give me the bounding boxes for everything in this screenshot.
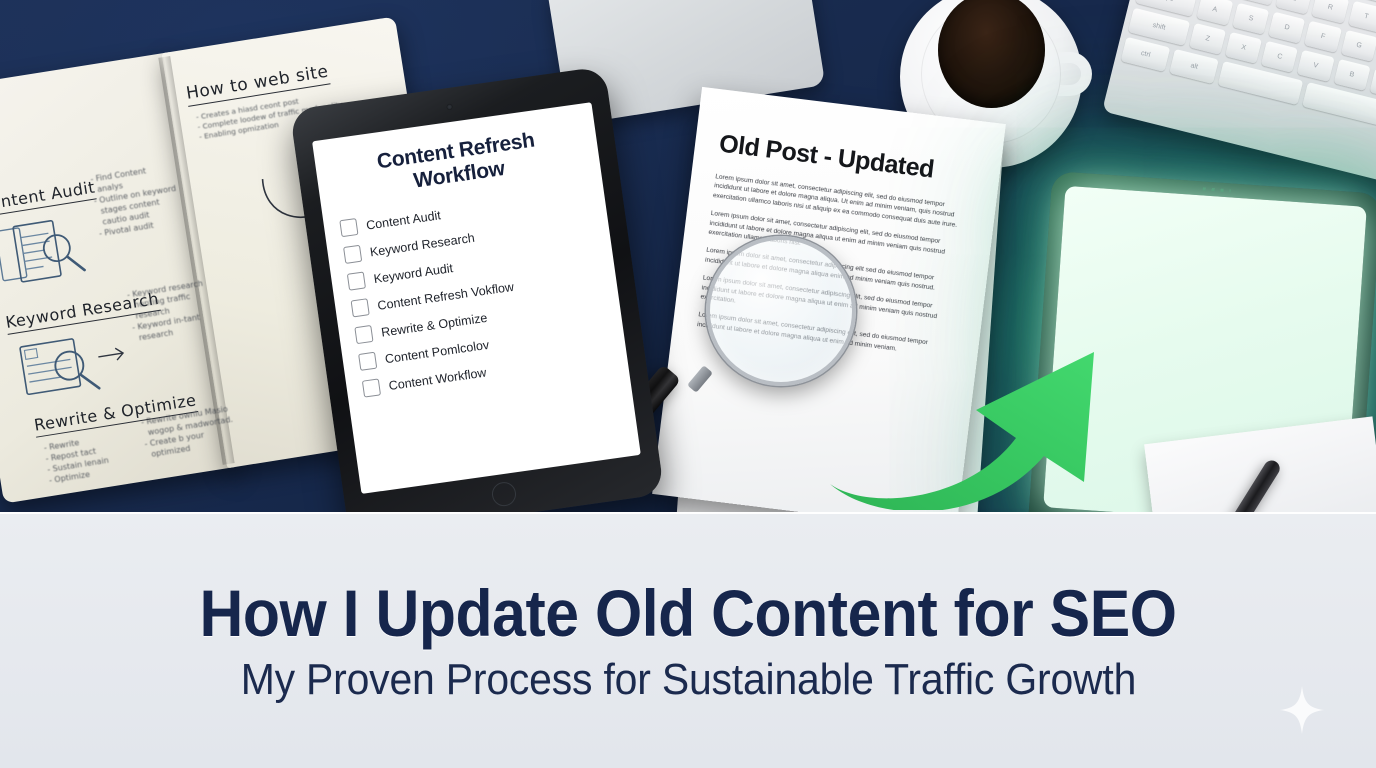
checkbox[interactable] xyxy=(358,352,377,371)
checklist-item-label: Rewrite & Optimize xyxy=(380,310,488,339)
checklist-item-label: Content Audit xyxy=(365,208,441,232)
notebook-notes-content-audit: - Find Content analys - Outline on keywo… xyxy=(90,161,182,239)
desk-photo: ~ 1 2 3 4 5 6 7 8 tab Q W E R T Y U xyxy=(0,0,1376,514)
checklist-item-label: Content Pomlcolov xyxy=(384,337,490,365)
key: D xyxy=(1268,12,1305,44)
key: V xyxy=(1297,50,1334,82)
checkbox[interactable] xyxy=(354,325,373,344)
checklist: Content Audit Keyword Research Keyword A… xyxy=(339,186,611,398)
key: N xyxy=(1369,68,1376,100)
checkbox[interactable] xyxy=(343,245,362,264)
tablet-screen: Content Refresh Workflow Content Audit K… xyxy=(312,102,641,494)
key: X xyxy=(1225,32,1262,64)
checkbox[interactable] xyxy=(362,378,381,397)
key: T xyxy=(1348,1,1376,33)
key: R xyxy=(1312,0,1349,24)
key: Z xyxy=(1189,23,1226,55)
checkbox[interactable] xyxy=(347,271,366,290)
keyboard: ~ 1 2 3 4 5 6 7 8 tab Q W E R T Y U xyxy=(1102,0,1376,191)
green-arrow-icon xyxy=(826,260,1166,510)
page-subtitle: My Proven Process for Sustainable Traffi… xyxy=(240,656,1135,704)
checkbox[interactable] xyxy=(351,298,370,317)
tablet-sensor-dots xyxy=(1203,187,1231,192)
key: B xyxy=(1333,59,1370,91)
checklist-item-label: Content Workflow xyxy=(388,365,487,393)
key: F xyxy=(1304,21,1341,53)
magnifier-lens xyxy=(706,236,856,386)
key: G xyxy=(1340,30,1376,62)
blog-header-graphic: ~ 1 2 3 4 5 6 7 8 tab Q W E R T Y U xyxy=(0,0,1376,768)
tablet-home-button[interactable] xyxy=(490,481,517,508)
key: A xyxy=(1196,0,1233,26)
title-banner: How I Update Old Content for SEO My Prov… xyxy=(0,512,1376,768)
checklist-item-label: Keyword Research xyxy=(369,230,476,259)
key-ctrl: ctrl xyxy=(1121,37,1171,72)
page-title: How I Update Old Content for SEO xyxy=(199,578,1176,648)
key: S xyxy=(1232,3,1269,35)
checklist-item-label: Keyword Audit xyxy=(373,261,454,286)
checkbox[interactable] xyxy=(339,218,358,237)
key: C xyxy=(1261,41,1298,73)
tablet-camera-icon xyxy=(446,104,453,111)
key-alt: alt xyxy=(1169,49,1219,84)
tablet-device: Content Refresh Workflow Content Audit K… xyxy=(289,66,664,514)
sparkle-icon xyxy=(1280,686,1324,734)
